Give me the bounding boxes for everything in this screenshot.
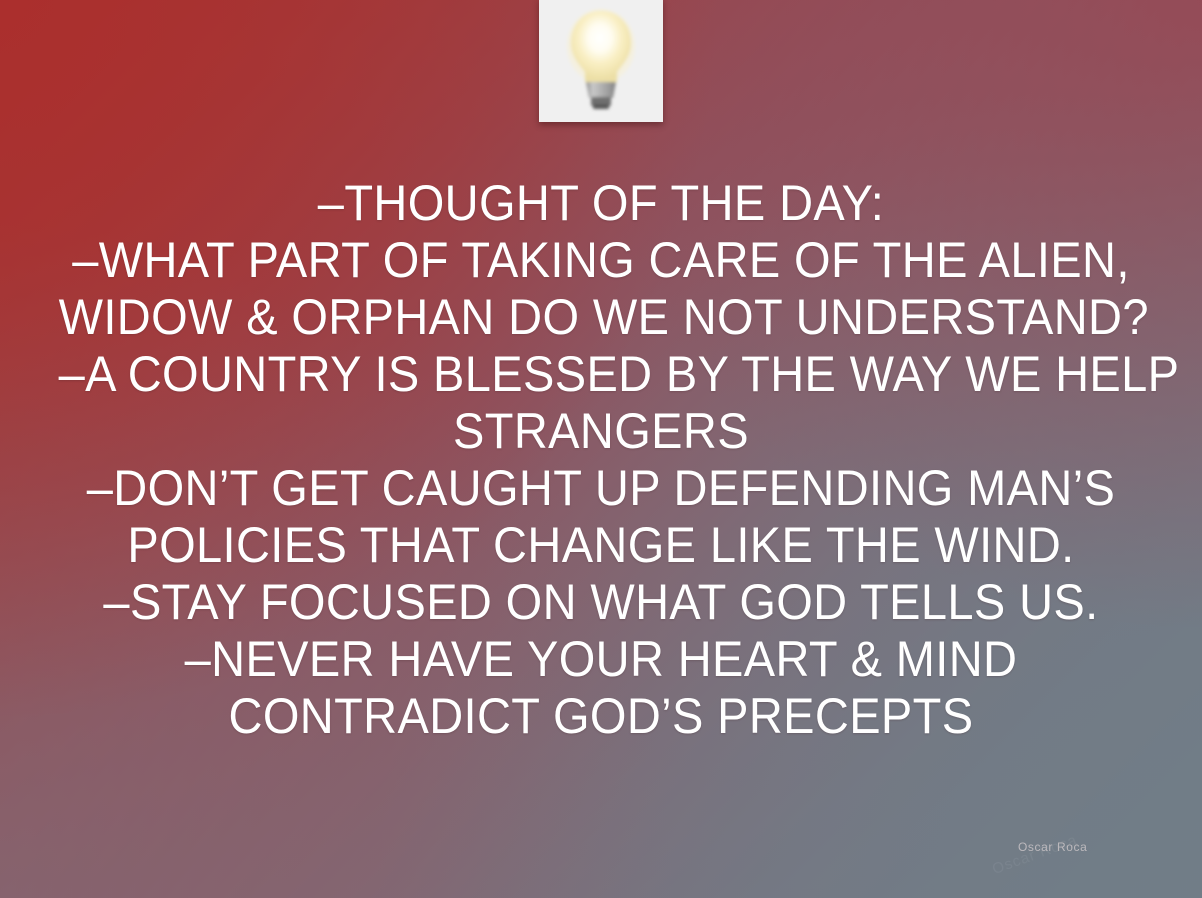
lightbulb-icon (539, 0, 663, 122)
quote-line: –THOUGHT OF THE DAY: (59, 175, 1144, 232)
quote-line: –WHAT PART OF TAKING CARE OF THE ALIEN, (59, 232, 1144, 289)
author-credit: Oscar Roca (1018, 840, 1087, 854)
watermark-diagonal: Oscar Roca (990, 831, 1080, 877)
quote-line: –NEVER HAVE YOUR HEART & MIND (59, 631, 1144, 688)
slide-canvas: –THOUGHT OF THE DAY: –WHAT PART OF TAKIN… (0, 0, 1202, 898)
quote-line: WIDOW & ORPHAN DO WE NOT UNDERSTAND? (59, 289, 1144, 346)
quote-line: –STAY FOCUSED ON WHAT GOD TELLS US. (59, 574, 1144, 631)
quote-line: CONTRADICT GOD’S PRECEPTS (59, 688, 1144, 745)
quote-line: STRANGERS (59, 403, 1144, 460)
lightbulb-image (539, 0, 663, 122)
quote-line: –DON’T GET CAUGHT UP DEFENDING MAN’S (59, 460, 1144, 517)
quote-text-block: –THOUGHT OF THE DAY: –WHAT PART OF TAKIN… (0, 175, 1202, 745)
quote-line: POLICIES THAT CHANGE LIKE THE WIND. (59, 517, 1144, 574)
quote-line: –A COUNTRY IS BLESSED BY THE WAY WE HELP (59, 346, 1144, 403)
